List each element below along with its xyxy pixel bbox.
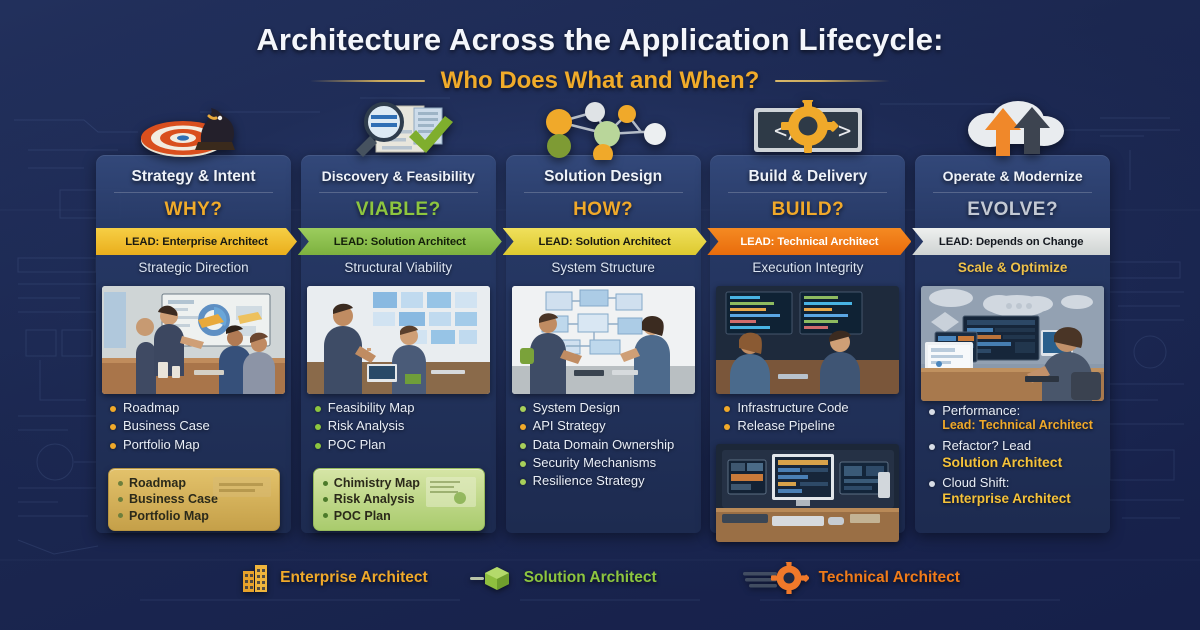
bullet-dot [520,461,526,467]
stage-outcome: Structural Viability [301,260,496,275]
bullet-dot [520,406,526,412]
header: Architecture Across the Application Life… [0,22,1200,95]
bullet-text: Risk Analysis [328,418,405,433]
subtitle-rule-right [775,80,890,82]
code-gear-screen-icon: </ > [710,102,905,160]
bullet-text: Refactor? Lead [942,438,1062,453]
bullet-text: Resilience Strategy [533,473,645,488]
list-item: API Strategy [520,418,696,433]
chip-dot [323,513,328,518]
chip-item: Portfolio Map [118,508,270,524]
document-lines-icon [213,477,271,497]
stage-title: Solution Design [506,168,701,186]
list-item: Refactor? Lead Solution Architect [929,438,1105,470]
chip-dot [323,497,328,502]
bullet-dot [520,424,526,430]
stage-outcome: Execution Integrity [710,260,905,275]
stage-question: WHY? [96,199,291,221]
illustration-multi-monitor-desk-setup [716,444,899,542]
chip-dot [323,481,328,486]
list-item: Resilience Strategy [520,473,696,488]
artifact-bullets: Infrastructure Code Release Pipeline [724,400,900,437]
list-item: Infrastructure Code [724,400,900,415]
bullet-subtext: Enterprise Architect [942,491,1071,507]
bullet-dot [929,409,935,415]
bullet-text: Cloud Shift: [942,475,1071,490]
chip-text: POC Plan [334,508,391,524]
lead-ribbon-build: LEAD: Technical Architect [707,228,911,255]
legend-item-solution-architect: Solution Architect [470,563,657,593]
stage-title: Operate & Modernize [915,168,1110,184]
list-item: Portfolio Map [110,437,286,452]
list-item: POC Plan [315,437,491,452]
bullet-dot [315,424,321,430]
lead-ribbon-strategy: LEAD: Enterprise Architect [96,228,297,255]
stage-question: BUILD? [710,199,905,221]
lead-ribbon-discovery: LEAD: Solution Architect [298,228,502,255]
stage-title-rule [319,192,478,193]
bullet-dot [315,443,321,449]
bullet-text: Security Mechanisms [533,455,657,470]
legend-label: Solution Architect [524,569,657,587]
bullet-text: API Strategy [533,418,606,433]
stage-column-solution-design[interactable]: Solution Design HOW? LEAD: Solution Arch… [506,103,701,533]
bullet-text: Performance: [942,403,1093,418]
bullet-text: Data Domain Ownership [533,437,675,452]
target-chess-knight-icon [96,102,291,160]
bullet-dot [110,443,116,449]
list-item: Release Pipeline [724,418,900,433]
svg-text:>: > [838,119,851,144]
list-item: Feasibility Map [315,400,491,415]
bullet-dot [724,406,730,412]
stage-question: VIABLE? [301,199,496,221]
page-subtitle: Who Does What and When? [441,67,760,95]
stage-title-rule [114,192,273,193]
lead-ribbon-operate: LEAD: Depends on Change [912,228,1110,255]
chip-text: Portfolio Map [129,508,209,524]
list-item: Roadmap [110,400,286,415]
bullet-dot [520,479,526,485]
artifact-chip-card-strategy: Roadmap Business Case Portfolio Map [108,468,280,531]
bullet-text: Infrastructure Code [737,400,848,415]
bullet-dot [724,424,730,430]
artifact-bullets: Roadmap Business Case Portfolio Map [110,400,286,455]
chip-text: Business Case [129,491,218,507]
legend-label: Technical Architect [819,569,960,587]
orange-gear-icon [743,562,809,594]
bullet-text: Roadmap [123,400,179,415]
list-item: Cloud Shift: Enterprise Architect [929,475,1105,507]
green-cube-icon [470,563,514,593]
magnifier-document-check-icon [301,102,496,160]
subtitle-rule-left [310,80,425,82]
chip-text: Chimistry Map [334,475,420,491]
stage-title-rule [933,192,1092,193]
chip-dot [118,513,123,518]
bullet-subtext: Solution Architect [942,454,1062,471]
bullet-dot [110,406,116,412]
page-title: Architecture Across the Application Life… [0,22,1200,58]
bullet-dot [929,444,935,450]
lead-label: LEAD: Solution Architect [334,236,466,248]
illustration-engineer-monitoring-dashboards [921,286,1104,401]
list-item: Business Case [110,418,286,433]
office-building-icon [240,563,270,593]
chip-item: POC Plan [323,508,475,524]
stage-column-operate-modernize[interactable]: Operate & Modernize EVOLVE? LEAD: Depend… [915,103,1110,533]
lead-label: LEAD: Technical Architect [740,236,878,248]
cloud-arrows-icon [915,102,1110,160]
list-item: Performance: Lead: Technical Architect [929,403,1105,433]
bullet-text: POC Plan [328,437,386,452]
artifact-bullets: Performance: Lead: Technical Architect R… [929,403,1105,510]
stage-outcome: Scale & Optimize [915,260,1110,275]
legend-item-technical-architect: Technical Architect [743,562,960,594]
list-item: Security Mechanisms [520,455,696,470]
report-thumb-icon [426,477,476,507]
list-item: Risk Analysis [315,418,491,433]
artifact-bullets: Feasibility Map Risk Analysis POC Plan [315,400,491,455]
bullet-text: Feasibility Map [328,400,415,415]
stage-question: EVOLVE? [915,199,1110,221]
bullet-text: System Design [533,400,620,415]
lifecycle-stage-columns: Strategy & Intent WHY? LEAD: Enterprise … [96,103,1110,533]
bullet-text: Portfolio Map [123,437,200,452]
lead-label: LEAD: Depends on Change [939,236,1084,248]
artifact-chip-card-discovery: Chimistry Map Risk Analysis POC Plan [313,468,485,531]
svg-text:</: </ [774,119,801,144]
illustration-architecture-whiteboard-team [512,286,695,394]
stage-column-discovery[interactable]: Discovery & Feasibility VIABLE? LEAD: So… [301,103,496,533]
lead-ribbon-solution-design: LEAD: Solution Architect [503,228,707,255]
legend-label: Enterprise Architect [280,569,428,587]
chip-dot [118,497,123,502]
chip-text: Risk Analysis [334,491,415,507]
bullet-dot [110,424,116,430]
bullet-text: Release Pipeline [737,418,835,433]
stage-title: Build & Delivery [710,168,905,186]
bullet-dot [929,481,935,487]
subtitle-row: Who Does What and When? [0,67,1200,95]
stage-column-build-delivery[interactable]: </ > Build & Delivery BUILD? LEAD: Te [710,103,905,533]
legend-item-enterprise-architect: Enterprise Architect [240,563,428,593]
stage-outcome: System Structure [506,260,701,275]
illustration-developers-at-code-screens [716,286,899,394]
list-item: System Design [520,400,696,415]
bullet-subtext: Lead: Technical Architect [942,418,1093,433]
bullet-dot [315,406,321,412]
artifact-bullets: System Design API Strategy Data Domain O… [520,400,696,492]
stage-column-strategy[interactable]: Strategy & Intent WHY? LEAD: Enterprise … [96,103,291,533]
list-item: Data Domain Ownership [520,437,696,452]
stage-title: Discovery & Feasibility [301,168,496,184]
chip-text: Roadmap [129,475,186,491]
stage-title-rule [524,192,683,193]
bullet-text: Business Case [123,418,210,433]
stage-title-rule [728,192,887,193]
bullet-dot [520,443,526,449]
role-legend: Enterprise Architect Solution Architect [0,562,1200,594]
stage-title: Strategy & Intent [96,168,291,186]
node-graph-icon [506,102,701,160]
stage-question: HOW? [506,199,701,221]
stage-outcome: Strategic Direction [96,260,291,275]
chip-dot [118,481,123,486]
illustration-workshop-sticky-notes [307,286,490,394]
lead-label: LEAD: Enterprise Architect [125,236,268,248]
illustration-boardroom-strategy-meeting [102,286,285,394]
lead-label: LEAD: Solution Architect [539,236,671,248]
